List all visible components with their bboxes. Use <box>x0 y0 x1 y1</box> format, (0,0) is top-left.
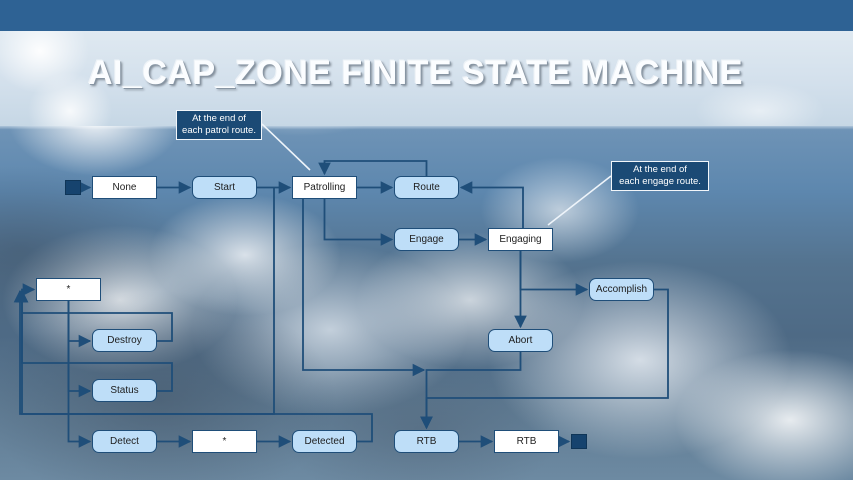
state-node-destroy[interactable]: Destroy <box>92 329 157 352</box>
state-node-none[interactable]: None <box>92 176 157 199</box>
state-node-patrolling[interactable]: Patrolling <box>292 176 357 199</box>
start-marker <box>65 180 81 195</box>
callout-patrol-line2: each patrol route. <box>182 125 256 136</box>
callout-patrol-leader <box>262 124 310 170</box>
callout-engage-line2: each engage route. <box>619 176 701 187</box>
callout-patrol-text: At the end ofeach patrol route. <box>182 113 256 137</box>
callout-engage-line1: At the end of <box>633 164 687 175</box>
state-node-status[interactable]: Status <box>92 379 157 402</box>
state-node-engaging[interactable]: Engaging <box>488 228 553 251</box>
state-node-rtb-white[interactable]: RTB <box>494 430 559 453</box>
callout-patrol: At the end ofeach patrol route. <box>176 110 262 140</box>
state-node-any-top[interactable]: * <box>36 278 101 301</box>
state-node-detected[interactable]: Detected <box>292 430 357 453</box>
callout-engage-text: At the end ofeach engage route. <box>619 164 701 188</box>
state-node-accomplish[interactable]: Accomplish <box>589 278 654 301</box>
end-marker <box>571 434 587 449</box>
state-node-route[interactable]: Route <box>394 176 459 199</box>
state-node-rtb-blue[interactable]: RTB <box>394 430 459 453</box>
callout-patrol-line1: At the end of <box>192 113 246 124</box>
slide-canvas: AI_CAP_ZONE FINITE STATE MACHINE <box>0 0 853 480</box>
state-node-engage[interactable]: Engage <box>394 228 459 251</box>
state-node-abort[interactable]: Abort <box>488 329 553 352</box>
callout-engage-leader <box>548 176 611 225</box>
state-node-any-bottom[interactable]: * <box>192 430 257 453</box>
state-node-detect[interactable]: Detect <box>92 430 157 453</box>
state-node-start[interactable]: Start <box>192 176 257 199</box>
callout-engage: At the end ofeach engage route. <box>611 161 709 191</box>
